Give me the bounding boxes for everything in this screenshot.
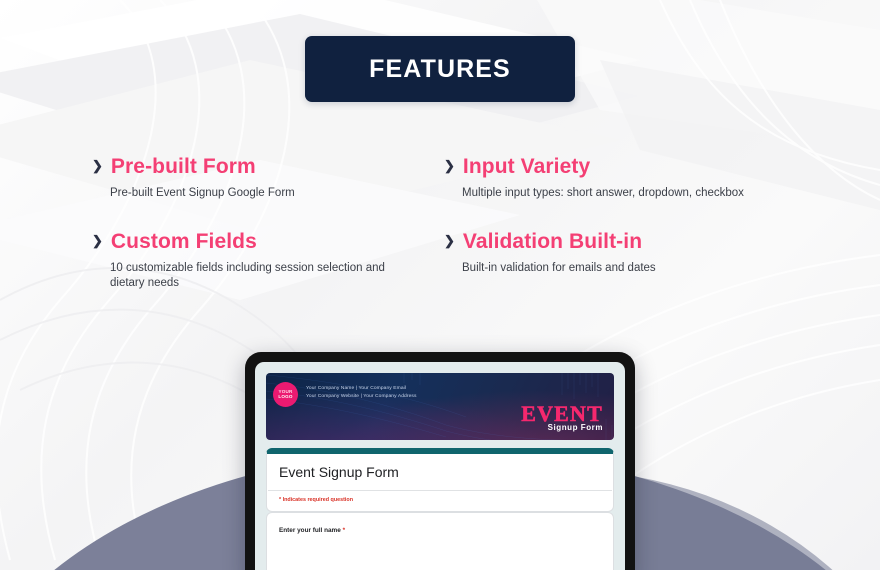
form-question-card[interactable]: Enter your full name *: [266, 512, 614, 570]
feature-heading: ❯ Pre-built Form: [92, 155, 444, 179]
company-logo-placeholder: YOUR LOGO: [273, 382, 298, 407]
form-question-text: Enter your full name: [279, 527, 341, 534]
feature-item-pre-built-form: ❯ Pre-built Form Pre-built Event Signup …: [92, 155, 444, 202]
form-banner: YOUR LOGO Your Company Name | Your Compa…: [266, 373, 614, 440]
banner-contact-line-2: Your Company Website | Your Company Addr…: [306, 393, 417, 401]
feature-description: 10 customizable fields including session…: [110, 261, 395, 292]
feature-item-input-variety: ❯ Input Variety Multiple input types: sh…: [444, 155, 796, 202]
feature-heading: ❯ Validation Built-in: [444, 230, 796, 254]
slide-canvas: FEATURES ❯ Pre-built Form Pre-built Even…: [0, 0, 880, 570]
feature-heading: ❯ Input Variety: [444, 155, 796, 179]
feature-title: Custom Fields: [111, 230, 257, 254]
banner-contact-line-1: Your Company Name | Your Company Email: [306, 385, 417, 393]
feature-title: Validation Built-in: [463, 230, 642, 254]
feature-item-validation-built-in: ❯ Validation Built-in Built-in validatio…: [444, 230, 796, 292]
feature-description: Pre-built Event Signup Google Form: [110, 186, 395, 202]
features-grid: ❯ Pre-built Form Pre-built Event Signup …: [92, 155, 792, 292]
feature-title: Input Variety: [463, 155, 590, 179]
chevron-right-icon: ❯: [92, 234, 103, 247]
feature-title: Pre-built Form: [111, 155, 256, 179]
features-badge-label: FEATURES: [369, 55, 511, 84]
form-title: Event Signup Form: [267, 454, 613, 490]
feature-description: Multiple input types: short answer, drop…: [462, 186, 747, 202]
feature-description: Built-in validation for emails and dates: [462, 261, 747, 277]
tablet-screen: YOUR LOGO Your Company Name | Your Compa…: [255, 362, 625, 570]
chevron-right-icon: ❯: [444, 159, 455, 172]
logo-line-2: LOGO: [278, 395, 292, 400]
required-asterisk-icon: *: [343, 527, 346, 534]
form-required-note: * Indicates required question: [267, 491, 613, 511]
chevron-right-icon: ❯: [92, 159, 103, 172]
tablet-mockup: YOUR LOGO Your Company Name | Your Compa…: [245, 352, 635, 570]
feature-item-custom-fields: ❯ Custom Fields 10 customizable fields i…: [92, 230, 444, 292]
features-badge: FEATURES: [305, 36, 575, 102]
google-form-header-card: Event Signup Form * Indicates required q…: [266, 448, 614, 512]
banner-event-subtitle: Signup Form: [548, 423, 603, 432]
banner-contact-info: Your Company Name | Your Company Email Y…: [306, 385, 417, 400]
feature-heading: ❯ Custom Fields: [92, 230, 444, 254]
form-question-label: Enter your full name *: [267, 513, 613, 534]
chevron-right-icon: ❯: [444, 234, 455, 247]
